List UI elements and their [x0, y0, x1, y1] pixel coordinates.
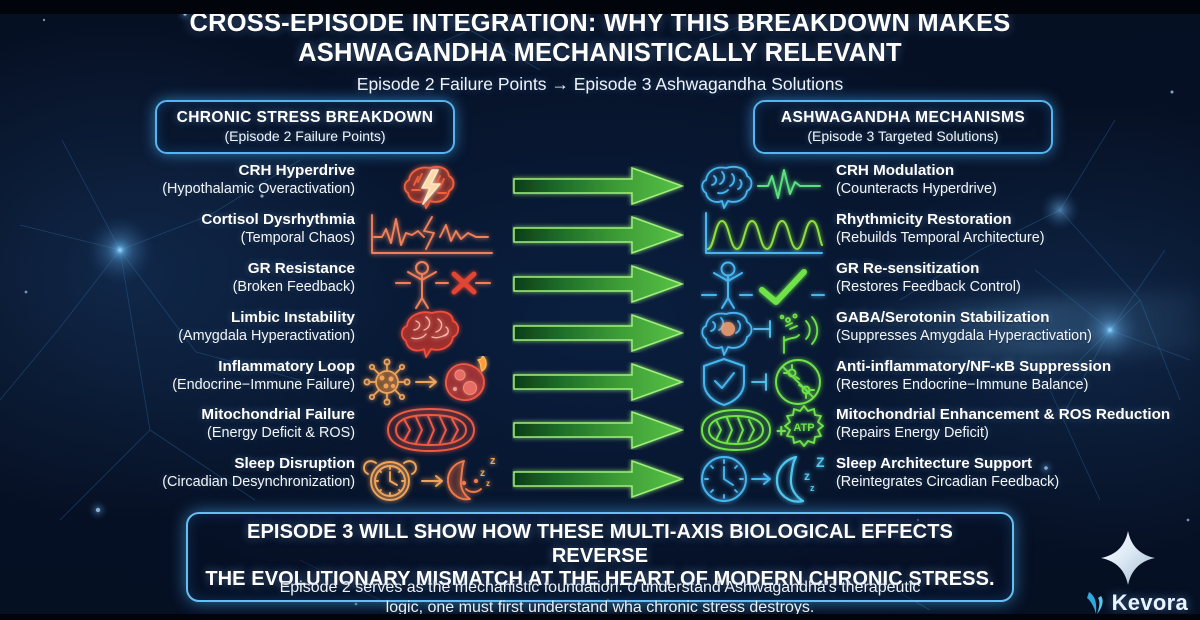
failure-point-sublabel: (Broken Feedback): [0, 278, 355, 296]
mechanism-sublabel: (Reintegrates Circadian Feedback): [836, 473, 1200, 491]
table-row: CRH Hyperdrive (Hypothalamic Overactivat…: [0, 162, 1200, 210]
mechanism-label: Rhythmicity Restoration: [836, 211, 1200, 229]
failure-point-sublabel: (Temporal Chaos): [0, 229, 355, 247]
mechanism-sublabel: (Rebuilds Temporal Architecture): [836, 229, 1200, 247]
failure-point-label: Cortisol Dysrhythmia: [0, 211, 355, 229]
mechanism-text: Anti-inflammatory/NF-κB Suppression (Res…: [836, 358, 1200, 394]
mechanism-text: GABA/Serotonin Stabilization (Suppresses…: [836, 309, 1200, 345]
infographic-canvas: CROSS-EPISODE INTEGRATION: WHY THIS BREA…: [0, 0, 1200, 620]
green-arrow-right-icon: [512, 264, 684, 304]
header-title-block: CROSS-EPISODE INTEGRATION: WHY THIS BREA…: [0, 8, 1200, 95]
mechanism-text: Sleep Architecture Support (Reintegrates…: [836, 455, 1200, 491]
title-line-2: ASHWAGANDHA MECHANISTICALLY RELEVANT: [0, 38, 1200, 68]
clock-to-sleeping-moon-icon: Z z z: [700, 453, 828, 505]
failure-point-label: Mitochondrial Failure: [0, 406, 355, 424]
brain-lightning-icon: [360, 160, 500, 212]
mechanism-sublabel: (Repairs Energy Deficit): [836, 424, 1200, 442]
top-letterbox-band: [0, 0, 1200, 14]
bottom-letterbox-band: [0, 614, 1200, 620]
column-left-subtitle: (Episode 2 Failure Points): [175, 128, 435, 144]
mechanism-text: CRH Modulation (Counteracts Hyperdrive): [836, 162, 1200, 198]
mechanism-sublabel: (Restores Feedback Control): [836, 278, 1200, 296]
failure-point-text: CRH Hyperdrive (Hypothalamic Overactivat…: [0, 162, 355, 198]
table-row: GR Resistance (Broken Feedback): [0, 260, 1200, 308]
failure-point-text: Mitochondrial Failure (Energy Deficit & …: [0, 406, 355, 442]
svg-text:ATP: ATP: [793, 422, 814, 434]
failure-point-sublabel: (Circadian Desynchronization): [0, 473, 355, 491]
mechanism-sublabel: (Counteracts Hyperdrive): [836, 180, 1200, 198]
failure-point-sublabel: (Hypothalamic Overactivation): [0, 180, 355, 198]
svg-text:z: z: [480, 468, 485, 479]
mechanism-sublabel: (Suppresses Amygdala Hyperactivation): [836, 327, 1200, 345]
red-brain-icon: [360, 307, 500, 359]
failure-point-label: CRH Hyperdrive: [0, 162, 355, 180]
failure-point-sublabel: (Energy Deficit & ROS): [0, 424, 355, 442]
mechanism-text: GR Re-sensitization (Restores Feedback C…: [836, 260, 1200, 296]
svg-text:z: z: [804, 469, 810, 483]
table-row: Mitochondrial Failure (Energy Deficit & …: [0, 406, 1200, 454]
svg-text:z: z: [810, 483, 815, 493]
table-row: Sleep Disruption (Circadian Desynchroniz…: [0, 455, 1200, 503]
mechanism-label: Anti-inflammatory/NF-κB Suppression: [836, 358, 1200, 376]
failure-point-sublabel: (Amygdala Hyperactivation): [0, 327, 355, 345]
svg-text:z: z: [490, 455, 496, 467]
failure-point-text: GR Resistance (Broken Feedback): [0, 260, 355, 296]
damaged-mitochondrion-icon: [360, 404, 500, 456]
footer-caption-line-1: Episode 2 serves as the mechanistic foun…: [150, 578, 1050, 598]
green-arrow-right-icon: [512, 313, 684, 353]
svg-text:z: z: [486, 479, 490, 488]
column-right-subtitle: (Episode 3 Targeted Solutions): [773, 128, 1033, 144]
column-left-title: CHRONIC STRESS BREAKDOWN: [175, 109, 435, 127]
alarm-clock-to-moon-icon: z z z: [360, 453, 500, 505]
green-arrow-right-icon: [512, 410, 684, 450]
failure-point-label: Sleep Disruption: [0, 455, 355, 473]
table-row: Limbic Instability (Amygdala Hyperactiva…: [0, 309, 1200, 357]
green-arrow-right-icon: [512, 459, 684, 499]
mechanism-text: Mitochondrial Enhancement & ROS Reductio…: [836, 406, 1200, 442]
green-arrow-right-icon: [512, 215, 684, 255]
failure-point-text: Limbic Instability (Amygdala Hyperactiva…: [0, 309, 355, 345]
table-row: Cortisol Dysrhythmia (Temporal Chaos): [0, 211, 1200, 259]
mitochondrion-plus-atp-icon: + ATP: [700, 404, 828, 456]
failure-point-label: Limbic Instability: [0, 309, 355, 327]
mechanism-label: Mitochondrial Enhancement & ROS Reductio…: [836, 406, 1200, 424]
column-header-right: ASHWAGANDHA MECHANISMS (Episode 3 Target…: [753, 100, 1053, 154]
header-subtitle: Episode 2 Failure Points → Episode 3 Ash…: [0, 74, 1200, 95]
four-point-star-icon: [1100, 530, 1156, 586]
failure-point-label: Inflammatory Loop: [0, 358, 355, 376]
failure-point-text: Sleep Disruption (Circadian Desynchroniz…: [0, 455, 355, 491]
green-arrow-right-icon: [512, 362, 684, 402]
virus-to-inflamed-cell-icon: [360, 356, 500, 408]
svg-text:+: +: [776, 421, 787, 441]
green-arrow-right-icon: [512, 166, 684, 206]
brain-ecg-icon: [700, 160, 828, 212]
mechanism-text: Rhythmicity Restoration (Rebuilds Tempor…: [836, 211, 1200, 247]
mechanism-label: Sleep Architecture Support: [836, 455, 1200, 473]
chaotic-waveform-chart-icon: [360, 209, 500, 261]
failure-point-text: Inflammatory Loop (Endocrine−Immune Fail…: [0, 358, 355, 394]
column-header-left: CHRONIC STRESS BREAKDOWN (Episode 2 Fail…: [155, 100, 455, 154]
mechanism-label: GR Re-sensitization: [836, 260, 1200, 278]
mechanism-label: GABA/Serotonin Stabilization: [836, 309, 1200, 327]
mechanism-sublabel: (Restores Endocrine−Immune Balance): [836, 376, 1200, 394]
failure-point-sublabel: (Endocrine−Immune Failure): [0, 376, 355, 394]
svg-text:Z: Z: [816, 454, 825, 470]
footer-caption: Episode 2 serves as the mechanistic foun…: [150, 578, 1050, 618]
mechanism-label: CRH Modulation: [836, 162, 1200, 180]
logo-text: Kevora: [1112, 590, 1188, 616]
footer-banner-line-1: EPISODE 3 WILL SHOW HOW THESE MULTI-AXIS…: [202, 521, 998, 568]
kevora-mark-icon: [1085, 590, 1107, 616]
column-right-title: ASHWAGANDHA MECHANISMS: [773, 109, 1033, 127]
shield-inhibits-pathogen-icon: [700, 356, 828, 408]
smooth-waveform-chart-icon: [700, 209, 828, 261]
brain-inhibits-neuron-icon: [700, 307, 828, 359]
brand-logo[interactable]: Kevora: [1085, 590, 1188, 616]
person-red-x-icon: [360, 258, 500, 310]
table-row: Inflammatory Loop (Endocrine−Immune Fail…: [0, 358, 1200, 406]
person-green-check-icon: [700, 258, 828, 310]
failure-point-label: GR Resistance: [0, 260, 355, 278]
failure-point-text: Cortisol Dysrhythmia (Temporal Chaos): [0, 211, 355, 247]
